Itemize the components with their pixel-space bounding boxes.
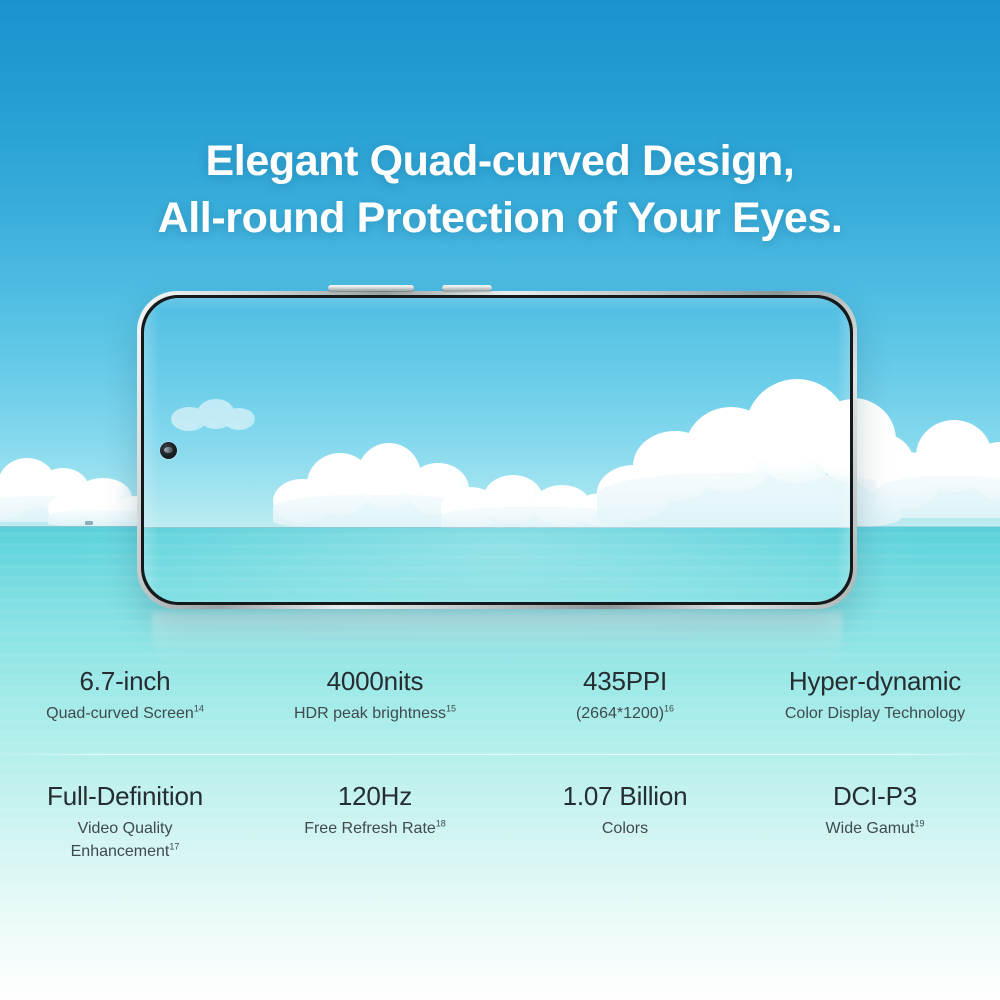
headline-line-1: Elegant Quad-curved Design, [206,137,795,185]
spec-title: 6.7-inch [0,664,250,698]
spec-color-technology: Hyper-dynamic Color Display Technology [750,664,1000,725]
spec-subtitle: Quad-curved Screen14 [0,702,250,725]
spec-pixel-density: 435PPI (2664*1200)16 [500,664,750,725]
spec-title: 435PPI [500,664,750,698]
spec-color-gamut: DCI-P3 Wide Gamut19 [750,779,1000,863]
spec-subtitle: Free Refresh Rate18 [250,817,500,840]
spec-subtitle: HDR peak brightness15 [250,702,500,725]
headline-line-2: All-round Protection of Your Eyes. [0,190,1000,247]
spec-brightness: 4000nits HDR peak brightness15 [250,664,500,725]
footnote-ref: 18 [436,819,446,829]
spec-row-1: 6.7-inch Quad-curved Screen14 4000nits H… [0,664,1000,725]
footnote-ref: 17 [169,842,179,852]
spec-divider [0,754,1000,755]
spec-video-quality: Full-Definition Video QualityEnhancement… [0,779,250,863]
footnote-ref: 16 [664,704,674,714]
spec-color-depth: 1.07 Billion Colors [500,779,750,863]
power-button[interactable] [442,285,492,291]
phone-screen [144,298,850,602]
front-camera-punch-hole-icon [160,442,177,459]
spec-subtitle: Wide Gamut19 [750,817,1000,840]
footnote-ref: 15 [446,704,456,714]
screen-wallpaper [144,298,850,602]
spec-subtitle: Video QualityEnhancement17 [0,817,250,863]
spec-title: DCI-P3 [750,779,1000,813]
spec-title: Hyper-dynamic [750,664,1000,698]
spec-title: Full-Definition [0,779,250,813]
spec-refresh-rate: 120Hz Free Refresh Rate18 [250,779,500,863]
spec-title: 120Hz [250,779,500,813]
spec-subtitle: Colors [500,817,750,840]
spec-subtitle: Color Display Technology [750,702,1000,725]
spec-subtitle: (2664*1200)16 [500,702,750,725]
spec-title: 1.07 Billion [500,779,750,813]
distant-boat [85,521,93,525]
smartphone-mockup [137,291,857,609]
footnote-ref: 14 [194,704,204,714]
volume-rocker-button[interactable] [328,285,414,291]
footnote-ref: 19 [914,819,924,829]
phone-bezel [141,295,853,605]
product-feature-page: Elegant Quad-curved Design, All-round Pr… [0,0,1000,1000]
spec-row-2: Full-Definition Video QualityEnhancement… [0,779,1000,863]
spec-screen-size: 6.7-inch Quad-curved Screen14 [0,664,250,725]
spec-title: 4000nits [250,664,500,698]
page-headline: Elegant Quad-curved Design, All-round Pr… [0,133,1000,247]
